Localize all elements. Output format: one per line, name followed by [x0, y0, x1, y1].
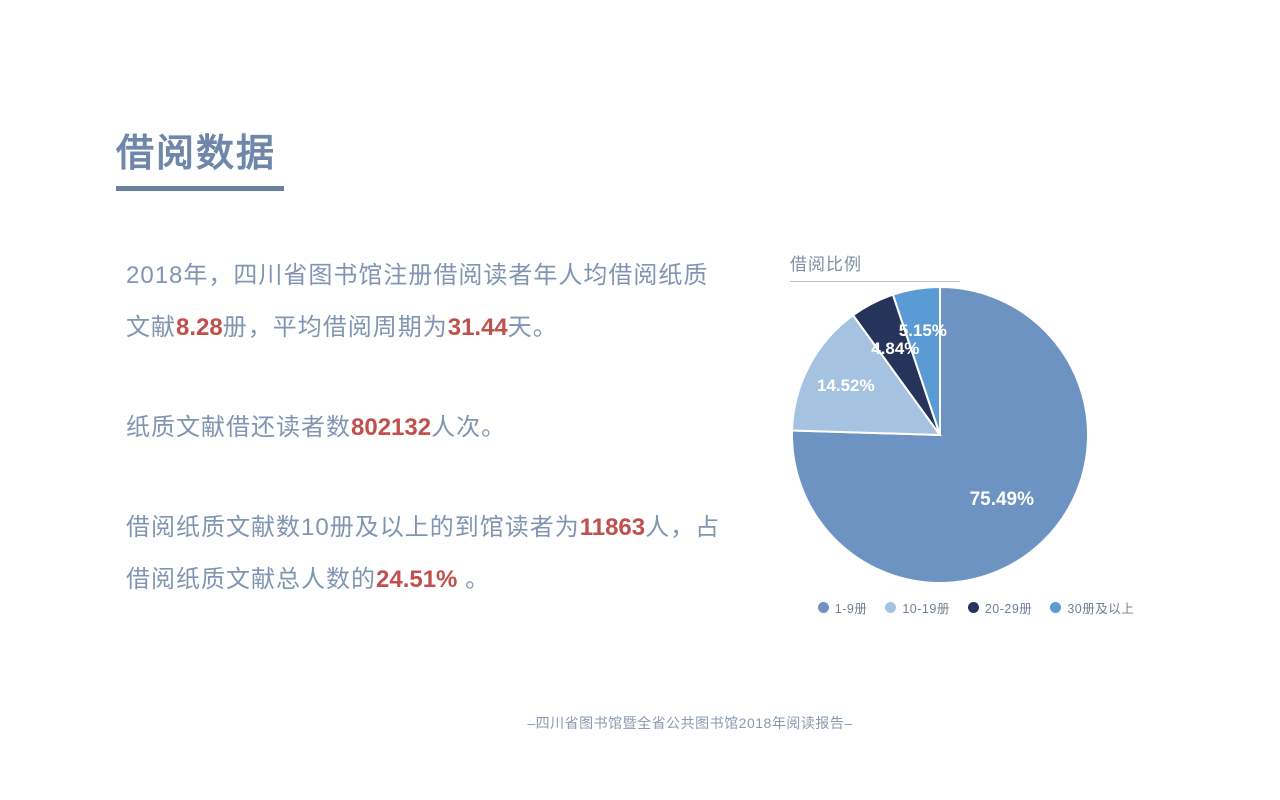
paragraph-1: 2018年，四川省图书馆注册借阅读者年人均借阅纸质文献8.28册，平均借阅周期为…: [126, 250, 726, 354]
legend-item-label: 30册及以上: [1067, 598, 1134, 617]
highlight-value: 8.28: [176, 314, 223, 341]
highlight-value: 802132: [351, 414, 431, 441]
pie-slice-value-label: 14.52%: [817, 376, 875, 395]
legend-item[interactable]: 1-9册: [818, 598, 868, 617]
paragraph-text: 。: [457, 566, 490, 593]
pie-slice-value-label: 5.15%: [899, 321, 947, 340]
page-title: 借阅数据: [116, 130, 446, 178]
legend-color-dot-icon: [885, 602, 896, 613]
chart-panel: 借阅比例 75.49%14.52%4.84%5.15% 1-9册10-19册20…: [790, 250, 1190, 650]
legend-item[interactable]: 30册及以上: [1050, 598, 1134, 617]
legend-item-label: 10-19册: [902, 598, 949, 617]
paragraph-text: 借阅纸质文献数10册及以上的到馆读者为: [126, 514, 580, 541]
paragraph-text: 人次。: [431, 414, 506, 441]
paragraph-text: 册，平均借阅周期为: [223, 314, 448, 341]
legend-color-dot-icon: [1050, 602, 1061, 613]
footer-text: –四川省图书馆暨全省公共图书馆2018年阅读报告–: [527, 713, 852, 733]
paragraph-3: 借阅纸质文献数10册及以上的到馆读者为11863人，占借阅纸质文献总人数的24.…: [126, 502, 726, 606]
legend-color-dot-icon: [818, 602, 829, 613]
chart-title: 借阅比例: [790, 250, 1190, 281]
legend-color-dot-icon: [968, 602, 979, 613]
title-underline-rule: [116, 186, 284, 191]
legend-item[interactable]: 10-19册: [885, 598, 949, 617]
title-block: 借阅数据: [116, 130, 446, 191]
legend-item-label: 1-9册: [835, 598, 868, 617]
slide-root: 借阅数据 2018年，四川省图书馆注册借阅读者年人均借阅纸质文献8.28册，平均…: [0, 0, 1280, 800]
paragraph-2: 纸质文献借还读者数802132人次。: [126, 402, 726, 454]
legend-item-label: 20-29册: [985, 598, 1032, 617]
chart-legend: 1-9册10-19册20-29册30册及以上: [766, 598, 1186, 617]
pie-slice-value-label: 4.84%: [871, 339, 919, 358]
body-text-column: 2018年，四川省图书馆注册借阅读者年人均借阅纸质文献8.28册，平均借阅周期为…: [126, 250, 726, 606]
highlight-value: 31.44: [448, 314, 508, 341]
slide-footer: –四川省图书馆暨全省公共图书馆2018年阅读报告–: [0, 713, 1280, 733]
pie-chart: 75.49%14.52%4.84%5.15%: [790, 285, 1090, 585]
legend-item[interactable]: 20-29册: [968, 598, 1032, 617]
paragraph-text: 天。: [508, 314, 558, 341]
chart-title-underline-rule: [790, 281, 960, 282]
pie-slice-value-label: 75.49%: [970, 489, 1035, 510]
highlight-value: 24.51%: [376, 566, 457, 593]
pie-chart-svg: 75.49%14.52%4.84%5.15%: [790, 285, 1090, 585]
highlight-value: 11863: [580, 514, 645, 541]
paragraph-text: 纸质文献借还读者数: [126, 414, 351, 441]
